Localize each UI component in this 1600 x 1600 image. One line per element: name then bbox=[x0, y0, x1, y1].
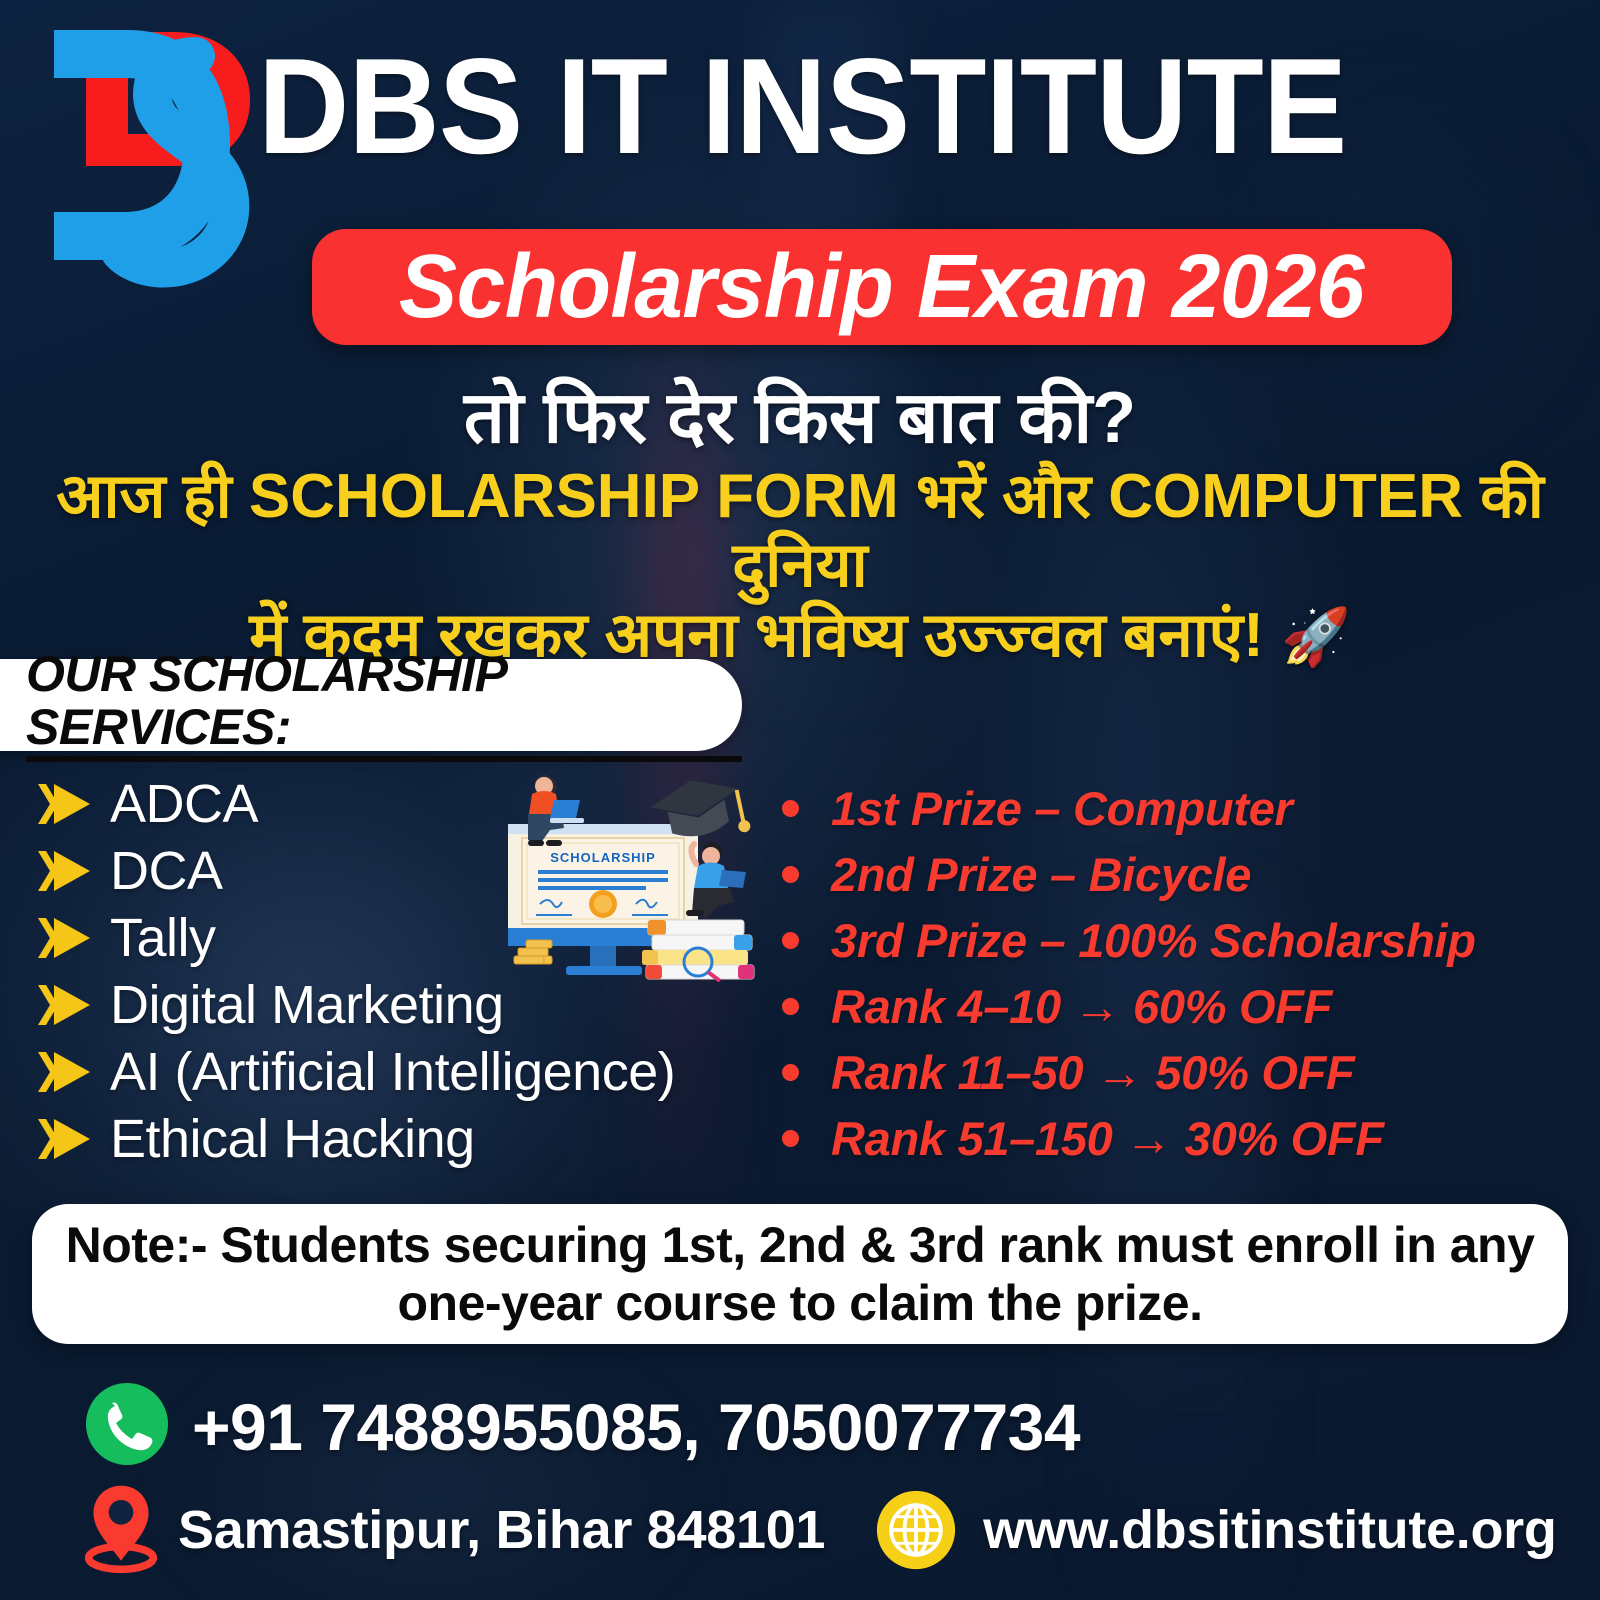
services-heading-pill: OUR SCHOLARSHIP SERVICES: bbox=[0, 659, 742, 751]
map-pin-icon bbox=[80, 1480, 162, 1580]
list-item-label: Rank 4–10 → 60% OFF bbox=[831, 979, 1332, 1034]
list-item-label: Rank 51–150 → 30% OFF bbox=[831, 1111, 1384, 1166]
bullet-dot-icon bbox=[782, 1064, 799, 1081]
double-chevron-arrow-icon bbox=[36, 1048, 98, 1096]
globe-icon bbox=[875, 1489, 957, 1571]
list-item-label: Tally bbox=[110, 907, 216, 969]
exam-banner-label: Scholarship Exam 2026 bbox=[399, 236, 1364, 339]
note-text: Note:- Students securing 1st, 2nd & 3rd … bbox=[32, 1216, 1568, 1332]
list-item-label: 2nd Prize – Bicycle bbox=[831, 847, 1251, 902]
contact-phone[interactable]: +91 7488955085, 7050077734 bbox=[84, 1381, 1080, 1472]
bullet-dot-icon bbox=[782, 932, 799, 949]
double-chevron-arrow-icon bbox=[36, 847, 98, 895]
double-chevron-arrow-icon bbox=[36, 1115, 98, 1163]
list-item-label: DCA bbox=[110, 840, 223, 902]
prize-list: 1st Prize – Computer 2nd Prize – Bicycle… bbox=[782, 775, 1592, 1171]
list-item: Rank 51–150 → 30% OFF bbox=[782, 1105, 1592, 1171]
headline-question: तो फिर देर किस बात की? bbox=[0, 366, 1600, 464]
rocket-icon: 🚀 bbox=[1281, 605, 1351, 668]
bullet-dot-icon bbox=[782, 866, 799, 883]
list-item: 1st Prize – Computer bbox=[782, 775, 1592, 841]
list-item: 2nd Prize – Bicycle bbox=[782, 841, 1592, 907]
page-title: DBS IT INSTITUTE bbox=[258, 38, 1346, 174]
bullet-dot-icon bbox=[782, 998, 799, 1015]
list-item: Ethical Hacking bbox=[36, 1105, 736, 1172]
contact-location-web: Samastipur, Bihar 848101 www.dbsitinstit… bbox=[80, 1480, 1557, 1580]
address-text: Samastipur, Bihar 848101 bbox=[178, 1499, 825, 1561]
services-heading: OUR SCHOLARSHIP SERVICES: bbox=[26, 648, 742, 762]
list-item-label: Digital Marketing bbox=[110, 974, 504, 1036]
phone-number: +91 7488955085, 7050077734 bbox=[192, 1389, 1080, 1465]
dbs-monogram-logo-icon bbox=[24, 14, 274, 294]
double-chevron-arrow-icon bbox=[36, 780, 98, 828]
list-item-label: Ethical Hacking bbox=[110, 1108, 475, 1170]
list-item-label: 1st Prize – Computer bbox=[831, 781, 1293, 836]
list-item: Rank 4–10 → 60% OFF bbox=[782, 973, 1592, 1039]
bullet-dot-icon bbox=[782, 800, 799, 817]
svg-text:SCHOLARSHIP: SCHOLARSHIP bbox=[550, 850, 656, 865]
headline-cta-line1: आज ही SCHOLARSHIP FORM भरें और COMPUTER … bbox=[24, 462, 1576, 601]
website-text[interactable]: www.dbsitinstitute.org bbox=[983, 1499, 1556, 1561]
bullet-dot-icon bbox=[782, 1130, 799, 1147]
list-item: Rank 11–50 → 50% OFF bbox=[782, 1039, 1592, 1105]
list-item-label: Rank 11–50 → 50% OFF bbox=[831, 1045, 1354, 1100]
list-item-label: ADCA bbox=[110, 773, 258, 835]
list-item-label: 3rd Prize – 100% Scholarship bbox=[831, 913, 1476, 968]
note-box: Note:- Students securing 1st, 2nd & 3rd … bbox=[32, 1204, 1568, 1344]
phone-icon bbox=[84, 1381, 170, 1472]
exam-banner: Scholarship Exam 2026 bbox=[312, 229, 1452, 345]
list-item: 3rd Prize – 100% Scholarship bbox=[782, 907, 1592, 973]
double-chevron-arrow-icon bbox=[36, 981, 98, 1029]
scholarship-certificate-illustration-icon: SCHOLARSHIP bbox=[470, 752, 770, 982]
double-chevron-arrow-icon bbox=[36, 914, 98, 962]
list-item-label: AI (Artificial Intelligence) bbox=[110, 1041, 675, 1103]
poster-canvas: DBS IT INSTITUTE Scholarship Exam 2026 त… bbox=[0, 0, 1600, 1600]
headline-cta: आज ही SCHOLARSHIP FORM भरें और COMPUTER … bbox=[0, 462, 1600, 670]
list-item: AI (Artificial Intelligence) bbox=[36, 1038, 736, 1105]
